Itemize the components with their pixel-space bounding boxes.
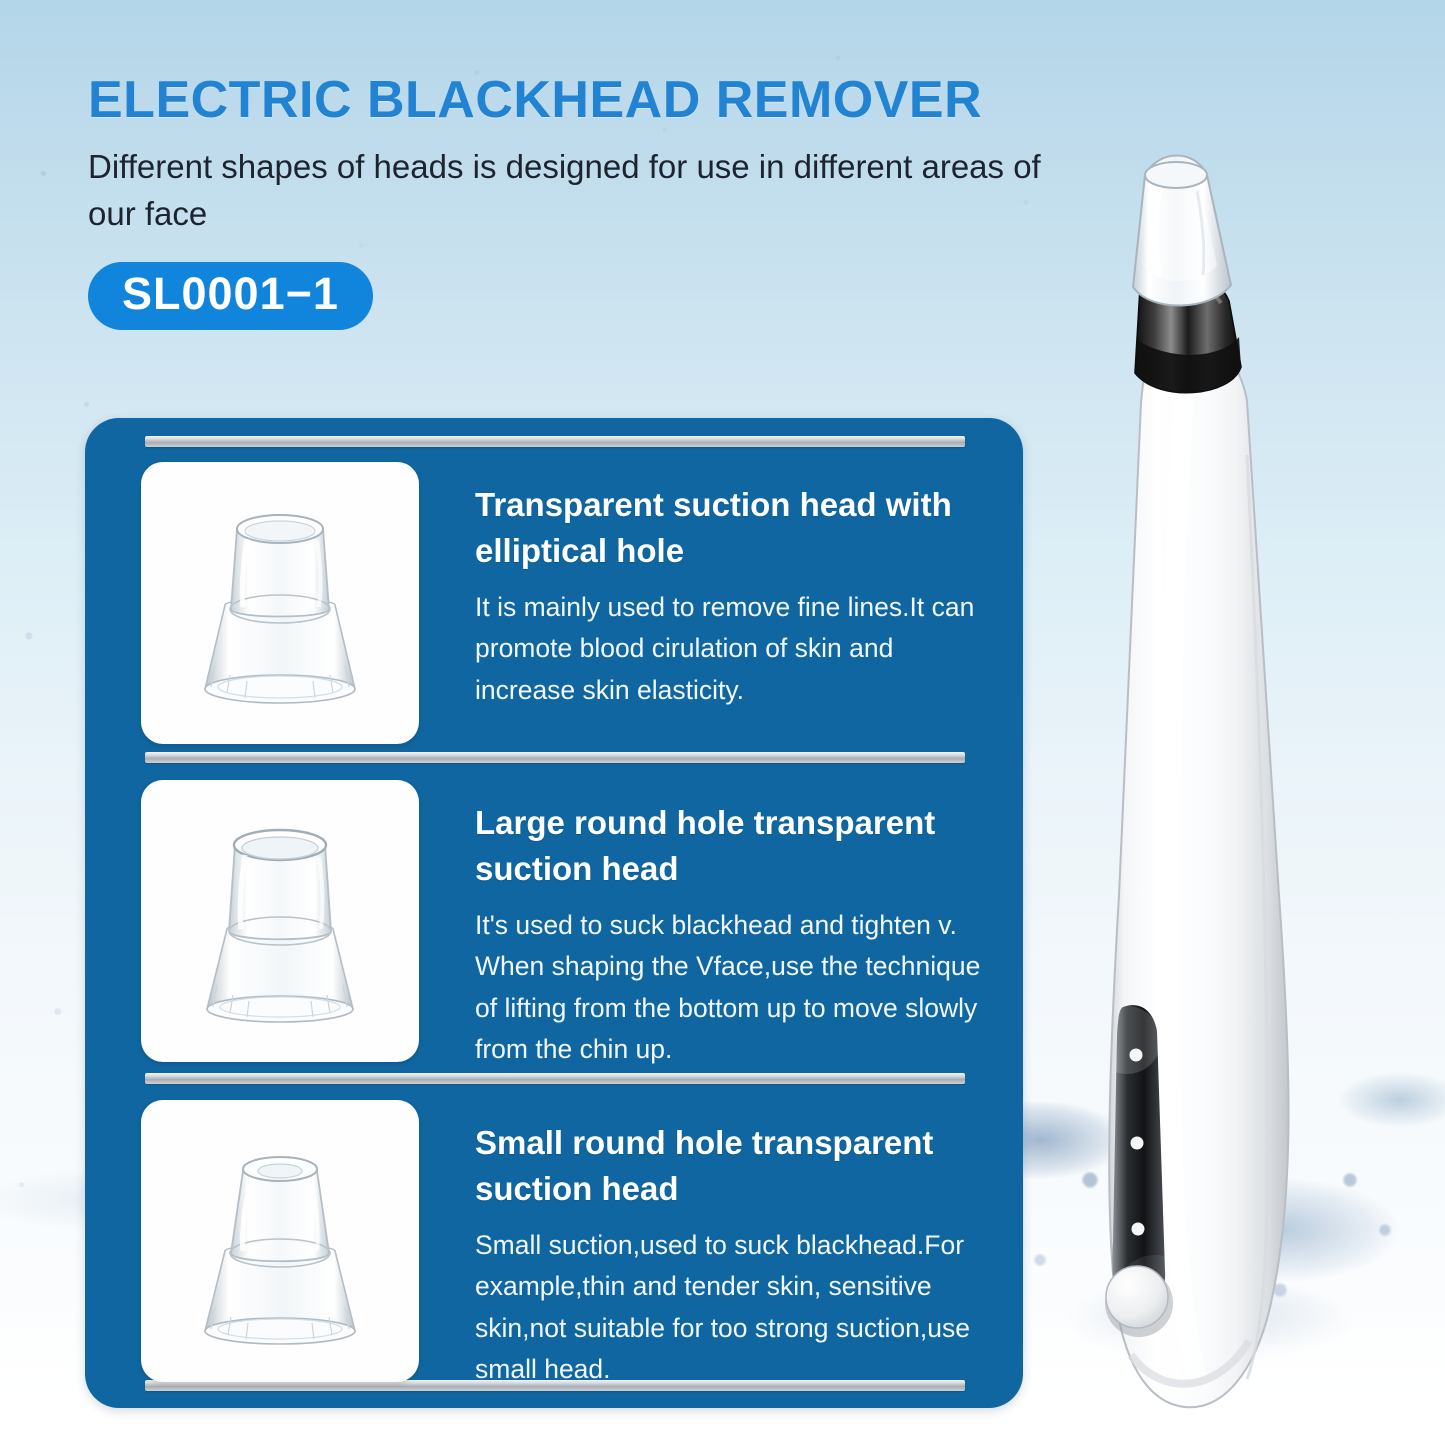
feature-row: Small round hole transparent suction hea…	[141, 1100, 991, 1390]
feature-text: Large round hole transparent suction hea…	[475, 780, 991, 1070]
device-cap-inner	[1145, 164, 1217, 281]
device-led-2	[1131, 1137, 1144, 1150]
device-bottom-shading	[1131, 1341, 1249, 1384]
feature-description: It is mainly used to remove fine lines.I…	[475, 587, 991, 711]
device-body-edge-line	[1247, 455, 1267, 1379]
thumbnail-card	[141, 1100, 419, 1382]
device-collar-lower	[1135, 337, 1241, 393]
water-splash-right	[980, 930, 1445, 1360]
page-title: ELECTRIC BLACKHEAD REMOVER	[88, 72, 1098, 128]
features-panel: Transparent suction head with elliptical…	[85, 418, 1023, 1408]
feature-text: Small round hole transparent suction hea…	[475, 1100, 991, 1390]
page-subtitle: Different shapes of heads is designed fo…	[88, 144, 1043, 238]
feature-title: Transparent suction head with elliptical…	[475, 482, 991, 573]
feature-description: Small suction,used to suck blackhead.For…	[475, 1225, 991, 1390]
feature-title: Large round hole transparent suction hea…	[475, 800, 991, 891]
small-round-hole-suction-head-icon	[175, 1131, 385, 1351]
thumbnail-card	[141, 780, 419, 1062]
large-round-hole-suction-head-icon	[175, 811, 385, 1031]
feature-title: Small round hole transparent suction hea…	[475, 1120, 991, 1211]
feature-row: Large round hole transparent suction hea…	[141, 780, 991, 1070]
device-body-highlight	[1170, 375, 1197, 1379]
device-cap-opening	[1145, 162, 1207, 188]
thumbnail-card	[141, 462, 419, 744]
device-power-button	[1106, 1266, 1168, 1328]
device-strip-sheen	[1093, 1006, 1195, 1335]
device-collar-highlight	[1149, 282, 1221, 303]
infographic-page: ELECTRIC BLACKHEAD REMOVER Different sha…	[0, 0, 1445, 1445]
device-led-1	[1130, 1049, 1143, 1062]
divider-1	[145, 752, 965, 763]
transparent-suction-head-elliptical-icon	[175, 493, 385, 713]
feature-row: Transparent suction head with elliptical…	[141, 462, 991, 744]
device-transparent-cap	[1133, 156, 1231, 306]
divider-top	[145, 436, 965, 447]
feature-description: It's used to suck blackhead and tighten …	[475, 905, 991, 1070]
device-power-button-shadow	[1105, 1269, 1173, 1337]
device-collar-ring	[1135, 266, 1241, 392]
device-cap-highlight	[1156, 187, 1159, 277]
device-cap-shadow-line	[1197, 191, 1204, 275]
device-control-strip	[1112, 1005, 1165, 1315]
model-code-badge: SL0001−1	[88, 262, 373, 330]
feature-text: Transparent suction head with elliptical…	[475, 462, 991, 711]
device-led-3	[1132, 1223, 1145, 1236]
device-body	[1109, 330, 1288, 1407]
header: ELECTRIC BLACKHEAD REMOVER Different sha…	[88, 72, 1098, 330]
divider-2	[145, 1073, 965, 1084]
